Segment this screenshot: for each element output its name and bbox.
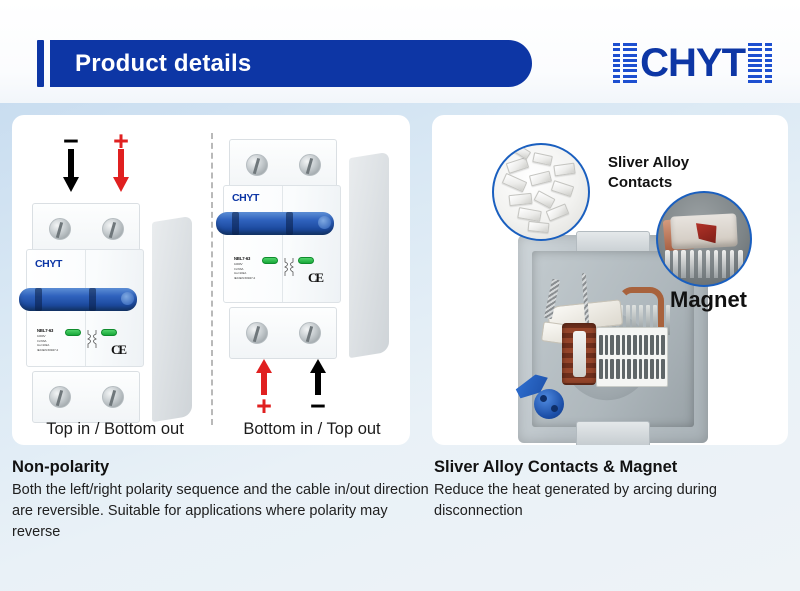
figure-caption: Top in / Bottom out [20, 420, 210, 439]
wiring-schematic-icon [85, 328, 101, 350]
status-led-icon [298, 257, 314, 264]
figure-top-in-bottom-out: − + [20, 115, 210, 445]
bottom-terminal-block [32, 371, 140, 423]
product-details-page: Product details CHYT − [0, 0, 800, 591]
logo-wordmark: CHYT [640, 43, 745, 83]
logo-right-bars-wide-icon [748, 43, 762, 83]
wiring-schematic-icon [282, 256, 298, 278]
terminal-screw-icon [246, 154, 268, 176]
terminal-screw-icon [102, 386, 124, 408]
polarity-mark-negative-bottom: − [301, 359, 335, 417]
status-led-icon [65, 329, 81, 336]
device-front-body: CHYT NBL7-63 1000V In=63A Icu=10kA IEC/E… [32, 203, 140, 423]
lever-notch [232, 212, 239, 235]
silver-alloy-contacts-label: Sliver Alloy Contacts [608, 153, 689, 194]
logo-left-bars-wide-icon [623, 43, 637, 83]
bottom-terminal-block [229, 307, 337, 359]
coil-core [573, 331, 586, 377]
figure-caption: Bottom in / Top out [217, 420, 407, 439]
polarity-mark-positive-top: + [104, 133, 138, 193]
magnet-closeup [656, 191, 752, 287]
arc-chute-assembly [596, 327, 668, 387]
header-accent-bar [37, 40, 44, 87]
left-caption-title: Non-polarity [12, 458, 430, 477]
magnet-label: Magnet [670, 287, 747, 313]
page-header: Product details CHYT [0, 0, 800, 103]
right-caption-block: Sliver Alloy Contacts & Magnet Reduce th… [434, 458, 790, 522]
figure-bottom-in-top-out: CHYT NBL7-63 1000V In=63A Icu=10kA IEC/E… [217, 115, 407, 445]
device-side-profile [152, 216, 192, 422]
device-brand-label: CHYT [35, 258, 62, 270]
polarity-mark-positive-bottom: + [247, 359, 281, 417]
terminal-screw-icon [299, 154, 321, 176]
terminal-screw-icon [102, 218, 124, 240]
down-arrow-red-icon [104, 149, 138, 193]
left-image-card: − + [12, 115, 410, 445]
device-spec-label: NBL7-63 1000V In=63A Icu=10kA IEC/EN 609… [234, 256, 255, 280]
brand-logo: CHYT [613, 38, 772, 88]
silver-alloy-contacts-closeup [492, 143, 590, 241]
cutaway-bottom-terminal [576, 421, 650, 445]
up-arrow-black-icon [301, 359, 335, 395]
card-divider [211, 133, 213, 425]
left-caption-text: Both the left/right polarity sequence an… [12, 480, 430, 543]
device-side-profile [349, 152, 389, 358]
terminal-screw-icon [246, 322, 268, 344]
knob-disc [534, 389, 564, 419]
pole-split-line [282, 186, 283, 302]
terminal-screw-icon [299, 322, 321, 344]
device-front-body: CHYT NBL7-63 1000V In=63A Icu=10kA IEC/E… [229, 139, 337, 359]
terminal-screw-icon [49, 218, 71, 240]
right-caption-text: Reduce the heat generated by arcing duri… [434, 480, 790, 522]
status-led-icon [262, 257, 278, 264]
page-title: Product details [75, 50, 251, 78]
right-image-card: Sliver Alloy Contacts Magnet [432, 115, 788, 445]
device-mid-block: CHYT NBL7-63 1000V In=63A Icu=10kA IEC/E… [26, 249, 144, 367]
logo-left-bars-icon [613, 43, 620, 83]
left-caption-block: Non-polarity Both the left/right polarit… [12, 458, 430, 543]
status-led-icon [101, 329, 117, 336]
lever-notch [89, 288, 96, 311]
circuit-breaker-device-1: CHYT NBL7-63 1000V In=63A Icu=10kA IEC/E… [32, 203, 192, 423]
device-spec-label: NBL7-63 1000V In=63A Icu=10kA IEC/EN 609… [37, 328, 58, 352]
logo-right-bars-icon [765, 43, 772, 83]
polarity-mark-negative-top: − [54, 133, 88, 193]
blue-adjust-knob[interactable] [516, 375, 576, 421]
terminal-screw-icon [49, 386, 71, 408]
lever-notch [286, 212, 293, 235]
ce-marking: CE [308, 270, 322, 286]
header-title-pill: Product details [50, 40, 532, 87]
circuit-breaker-device-2: CHYT NBL7-63 1000V In=63A Icu=10kA IEC/E… [229, 139, 389, 359]
top-terminal-block [229, 139, 337, 191]
top-terminal-block [32, 203, 140, 255]
device-mid-block: CHYT NBL7-63 1000V In=63A Icu=10kA IEC/E… [223, 185, 341, 303]
lever-notch [35, 288, 42, 311]
magnet-arc-fins [665, 250, 742, 278]
down-arrow-black-icon [54, 149, 88, 193]
right-caption-title: Sliver Alloy Contacts & Magnet [434, 458, 790, 477]
ce-marking: CE [111, 342, 125, 358]
device-brand-label: CHYT [232, 192, 259, 204]
up-arrow-red-icon [247, 359, 281, 395]
